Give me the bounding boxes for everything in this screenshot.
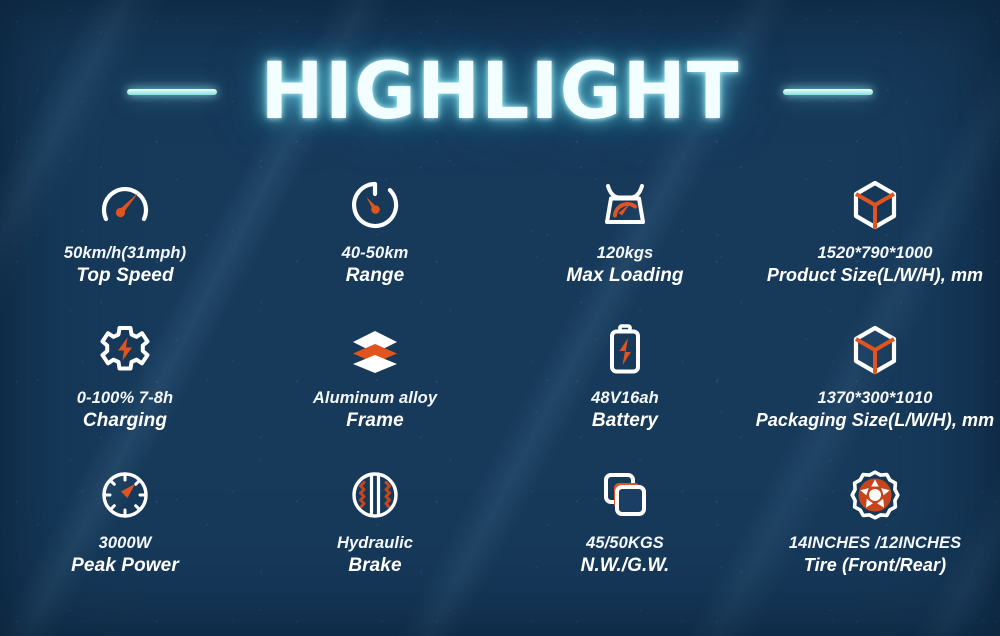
spec-item-battery: 48V16ah Battery (500, 317, 750, 462)
spec-item-net-gross-weight: 45/50KGS N.W./G.W. (500, 462, 750, 607)
spec-label: Max Loading (566, 265, 683, 288)
spec-label: N.W./G.W. (581, 555, 670, 578)
spec-value: 14INCHES /12INCHES (789, 534, 961, 553)
spec-value: Hydraulic (337, 534, 413, 553)
spec-item-charging: 0-100% 7-8h Charging (0, 317, 250, 462)
page-title: HIGHLIGHT (260, 53, 739, 131)
spec-label: Tire (Front/Rear) (804, 555, 946, 577)
spec-value: 50km/h(31mph) (64, 244, 186, 263)
weight-scale-icon (596, 176, 654, 234)
spec-label: Frame (346, 410, 404, 433)
brake-disc-icon (346, 466, 404, 524)
spec-item-top-speed: 50km/h(31mph) Top Speed (0, 172, 250, 317)
wheel-icon (846, 466, 904, 524)
spec-item-max-loading: 120kgs Max Loading (500, 172, 750, 317)
spec-value: 40-50km (342, 244, 409, 263)
spec-value: 1520*790*1000 (817, 244, 932, 263)
range-dial-icon (346, 176, 404, 234)
spec-item-tire: 14INCHES /12INCHES Tire (Front/Rear) (750, 462, 1000, 607)
spec-label: Range (346, 265, 405, 288)
spec-item-product-size: 1520*790*1000 Product Size(L/W/H), mm (750, 172, 1000, 317)
spec-item-packaging-size: 1370*300*1010 Packaging Size(L/W/H), mm (750, 317, 1000, 462)
spec-label: Packaging Size(L/W/H), mm (756, 410, 995, 432)
speedometer-icon (96, 176, 154, 234)
spec-grid: 50km/h(31mph) Top Speed 40-50km Range (0, 172, 1000, 612)
title-dash-left-icon (127, 89, 217, 95)
compass-icon (96, 466, 154, 524)
spec-item-frame: Aluminum alloy Frame (250, 317, 500, 462)
spec-item-peak-power: 3000W Peak Power (0, 462, 250, 607)
highlight-spec-panel: HIGHLIGHT 50km/h(31mph) Top Speed (0, 0, 1000, 636)
title-dash-right-icon (783, 89, 873, 95)
spec-value: 0-100% 7-8h (77, 389, 173, 408)
spec-item-brake: Hydraulic Brake (250, 462, 500, 607)
battery-bolt-icon (596, 321, 654, 379)
spec-value: 1370*300*1010 (817, 389, 932, 408)
spec-value: 45/50KGS (586, 534, 664, 553)
gear-bolt-icon (96, 321, 154, 379)
header: HIGHLIGHT (0, 44, 1000, 140)
spec-value: 48V16ah (591, 389, 659, 408)
spec-label: Product Size(L/W/H), mm (767, 265, 983, 287)
spec-label: Peak Power (71, 555, 179, 578)
spec-label: Brake (348, 555, 401, 578)
spec-value: 120kgs (597, 244, 654, 263)
spec-item-range: 40-50km Range (250, 172, 500, 317)
box-icon (846, 176, 904, 234)
layers-icon (346, 321, 404, 379)
spec-label: Charging (83, 410, 167, 433)
spec-value: 3000W (99, 534, 152, 553)
box-icon (846, 321, 904, 379)
stacked-squares-icon (596, 466, 654, 524)
spec-label: Top Speed (76, 265, 173, 288)
spec-value: Aluminum alloy (313, 389, 437, 408)
spec-label: Battery (592, 410, 658, 433)
